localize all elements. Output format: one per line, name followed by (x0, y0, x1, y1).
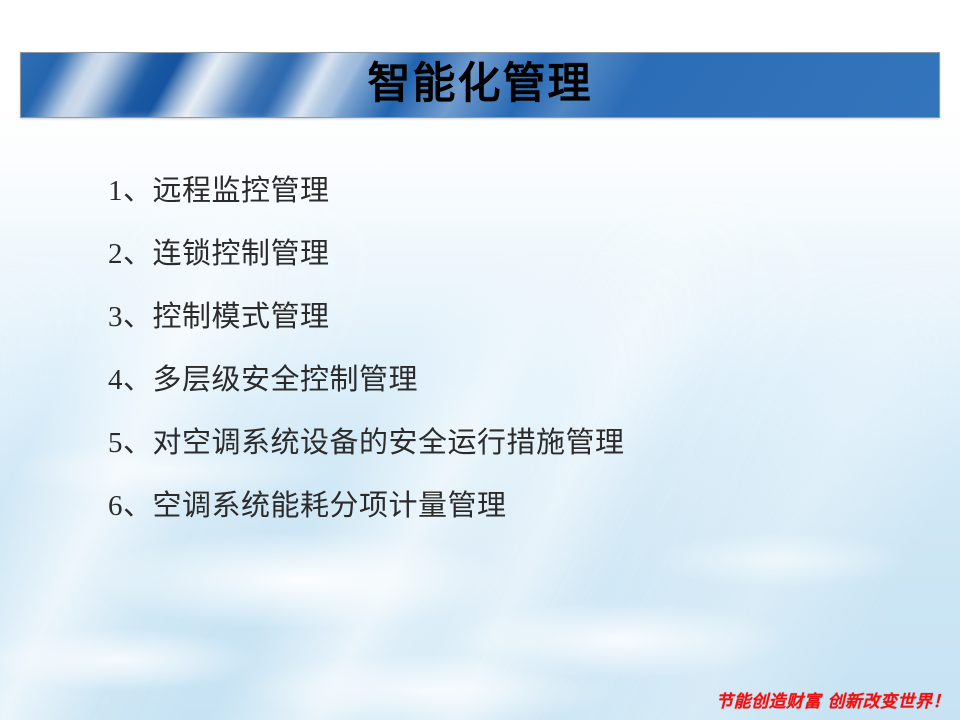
list-item-number: 2、 (108, 238, 153, 270)
content-list: 1、远程监控管理 2、连锁控制管理 3、控制模式管理 4、多层级安全控制管理 5… (108, 160, 908, 538)
list-item-number: 6、 (108, 490, 153, 522)
list-item: 4、多层级安全控制管理 (108, 349, 908, 412)
list-item-number: 3、 (108, 301, 153, 333)
list-item: 6、空调系统能耗分项计量管理 (108, 475, 908, 538)
list-item-label: 空调系统能耗分项计量管理 (153, 490, 507, 522)
list-item: 1、远程监控管理 (108, 160, 908, 223)
list-item: 2、连锁控制管理 (108, 223, 908, 286)
list-item-label: 控制模式管理 (153, 301, 330, 333)
list-item-label: 远程监控管理 (153, 175, 330, 207)
list-item-label: 多层级安全控制管理 (153, 364, 419, 396)
title-banner: 智能化管理 (20, 52, 940, 118)
page-title: 智能化管理 (21, 53, 939, 117)
list-item-number: 1、 (108, 175, 153, 207)
list-item: 3、控制模式管理 (108, 286, 908, 349)
list-item-number: 4、 (108, 364, 153, 396)
footer-slogan: 节能创造财富 创新改变世界！ (716, 687, 950, 712)
list-item-number: 5、 (108, 427, 153, 459)
list-item: 5、对空调系统设备的安全运行措施管理 (108, 412, 908, 475)
slide-canvas: 智能化管理 1、远程监控管理 2、连锁控制管理 3、控制模式管理 4、多层级安全… (0, 0, 960, 720)
list-item-label: 连锁控制管理 (153, 238, 330, 270)
list-item-label: 对空调系统设备的安全运行措施管理 (153, 427, 625, 459)
